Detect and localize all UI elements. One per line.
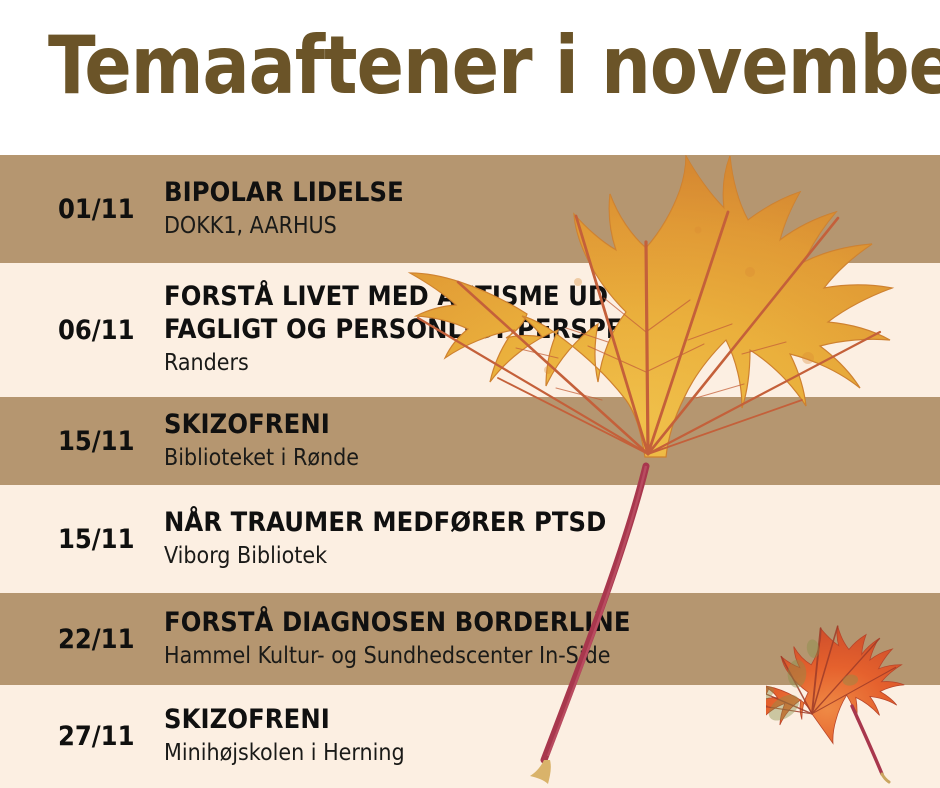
event-title: BIPOLAR LIDELSE <box>164 177 764 210</box>
poster-canvas: 01/11BIPOLAR LIDELSEDOKK1, AARHUS06/11FO… <box>0 0 940 788</box>
event-row: 06/11FORSTÅ LIVET MED AUTISME UD FRA ET … <box>0 263 940 397</box>
event-row: 15/11SKIZOFRENIBiblioteket i Rønde <box>0 397 940 485</box>
event-location: Biblioteket i Rønde <box>164 444 940 474</box>
event-location: Viborg Bibliotek <box>164 542 940 572</box>
event-body: SKIZOFRENIBiblioteket i Rønde <box>160 409 940 474</box>
event-body: NÅR TRAUMER MEDFØRER PTSDViborg Bibliote… <box>160 507 940 572</box>
event-title: SKIZOFRENI <box>164 409 764 442</box>
event-title: NÅR TRAUMER MEDFØRER PTSD <box>164 507 764 540</box>
event-location: Minihøjskolen i Herning <box>164 739 940 769</box>
title-bar: Temaaftener i november <box>0 0 940 155</box>
event-row: 01/11BIPOLAR LIDELSEDOKK1, AARHUS <box>0 155 940 263</box>
event-row-inner: 22/11FORSTÅ DIAGNOSEN BORDERLINEHammel K… <box>0 593 940 685</box>
event-location: DOKK1, AARHUS <box>164 212 940 242</box>
page-title: Temaaftener i november <box>48 24 940 108</box>
event-row-inner: 06/11FORSTÅ LIVET MED AUTISME UD FRA ET … <box>0 263 940 397</box>
event-row-inner: 01/11BIPOLAR LIDELSEDOKK1, AARHUS <box>0 155 940 263</box>
event-row-inner: 15/11NÅR TRAUMER MEDFØRER PTSDViborg Bib… <box>0 485 940 593</box>
event-body: BIPOLAR LIDELSEDOKK1, AARHUS <box>160 177 940 242</box>
event-list: 01/11BIPOLAR LIDELSEDOKK1, AARHUS06/11FO… <box>0 155 940 788</box>
event-row: 27/11SKIZOFRENIMinihøjskolen i Herning <box>0 685 940 788</box>
event-location: Randers <box>164 349 940 379</box>
event-date: 22/11 <box>0 624 160 655</box>
event-title: FORSTÅ LIVET MED AUTISME UD FRA ET FAGLI… <box>164 281 764 347</box>
event-title: FORSTÅ DIAGNOSEN BORDERLINE <box>164 607 764 640</box>
event-row: 22/11FORSTÅ DIAGNOSEN BORDERLINEHammel K… <box>0 593 940 685</box>
event-date: 27/11 <box>0 721 160 752</box>
event-date: 01/11 <box>0 194 160 225</box>
event-body: FORSTÅ DIAGNOSEN BORDERLINEHammel Kultur… <box>160 607 940 672</box>
event-row-inner: 15/11SKIZOFRENIBiblioteket i Rønde <box>0 397 940 485</box>
event-date: 15/11 <box>0 426 160 457</box>
event-row: 15/11NÅR TRAUMER MEDFØRER PTSDViborg Bib… <box>0 485 940 593</box>
event-date: 06/11 <box>0 315 160 346</box>
event-title: SKIZOFRENI <box>164 704 764 737</box>
event-location: Hammel Kultur- og Sundhedscenter In-Side <box>164 642 940 672</box>
event-date: 15/11 <box>0 524 160 555</box>
event-row-inner: 27/11SKIZOFRENIMinihøjskolen i Herning <box>0 685 940 788</box>
event-body: SKIZOFRENIMinihøjskolen i Herning <box>160 704 940 769</box>
event-body: FORSTÅ LIVET MED AUTISME UD FRA ET FAGLI… <box>160 281 940 379</box>
